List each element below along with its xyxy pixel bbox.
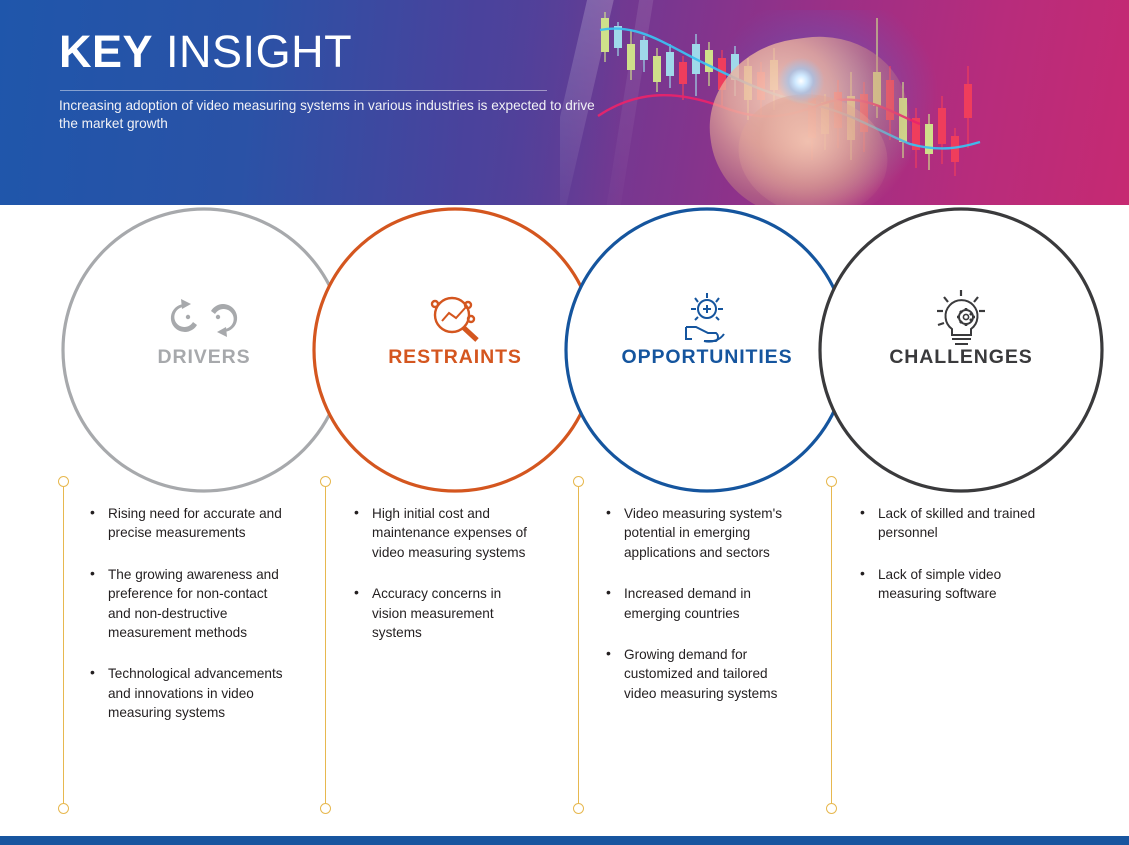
- circle-challenges[interactable]: CHALLENGES: [820, 209, 1102, 491]
- circle-label-opportunities: OPPORTUNITIES: [622, 346, 793, 368]
- bottom-accent-bar: [0, 836, 1129, 845]
- column-divider-restraints: [319, 470, 333, 820]
- bullet-list-opportunities: Video measuring system's potential in em…: [604, 504, 794, 703]
- infographic-page: KEY INSIGHT Increasing adoption of video…: [0, 0, 1129, 845]
- list-item: Video measuring system's potential in em…: [604, 504, 794, 562]
- bullet-columns: Rising need for accurate and precise mea…: [0, 470, 1129, 830]
- header-stock-chart-artwork: [560, 0, 1129, 205]
- bullet-list-drivers: Rising need for accurate and precise mea…: [88, 504, 283, 723]
- column-challenges: Lack of skilled and trained personnel La…: [858, 504, 1050, 626]
- column-opportunities: Video measuring system's potential in em…: [604, 504, 794, 725]
- page-title-bold: KEY: [59, 26, 153, 77]
- bullet-list-challenges: Lack of skilled and trained personnel La…: [858, 504, 1050, 604]
- list-item: Lack of simple video measuring software: [858, 565, 1050, 604]
- circle-row: DRIVERS RESTRAINTS: [0, 205, 1129, 495]
- divider-dot-bottom: [573, 803, 584, 814]
- divider-line: [325, 487, 326, 806]
- column-divider-challenges: [825, 470, 839, 820]
- divider-dot-bottom: [58, 803, 69, 814]
- header-banner: KEY INSIGHT Increasing adoption of video…: [0, 0, 1129, 205]
- page-subtitle: Increasing adoption of video measuring s…: [59, 97, 599, 133]
- bullet-list-restraints: High initial cost and maintenance expens…: [352, 504, 537, 642]
- list-item: High initial cost and maintenance expens…: [352, 504, 537, 562]
- column-drivers: Rising need for accurate and precise mea…: [88, 504, 283, 745]
- circle-label-restraints: RESTRAINTS: [388, 346, 522, 368]
- spark-glow-icon: [778, 58, 824, 104]
- divider-line: [578, 487, 579, 806]
- divider-dot-bottom: [826, 803, 837, 814]
- page-title-rest: INSIGHT: [166, 26, 352, 77]
- list-item: Increased demand in emerging countries: [604, 584, 794, 623]
- title-divider: [60, 90, 547, 91]
- column-restraints: High initial cost and maintenance expens…: [352, 504, 537, 664]
- circle-label-challenges: CHALLENGES: [889, 346, 1032, 368]
- divider-dot-top: [58, 476, 69, 487]
- circle-label-drivers: DRIVERS: [158, 346, 251, 368]
- column-divider-opportunities: [572, 470, 586, 820]
- column-divider-drivers: [57, 470, 71, 820]
- list-item: Growing demand for customized and tailor…: [604, 645, 794, 703]
- list-item: Technological advancements and innovatio…: [88, 664, 283, 722]
- divider-line: [831, 487, 832, 806]
- list-item: The growing awareness and preference for…: [88, 565, 283, 643]
- list-item: Rising need for accurate and precise mea…: [88, 504, 283, 543]
- list-item: Lack of skilled and trained personnel: [858, 504, 1050, 543]
- list-item: Accuracy concerns in vision measurement …: [352, 584, 537, 642]
- divider-dot-bottom: [320, 803, 331, 814]
- page-title: KEY INSIGHT: [59, 26, 352, 78]
- divider-line: [63, 487, 64, 806]
- divider-dot-top: [573, 476, 584, 487]
- divider-dot-top: [320, 476, 331, 487]
- divider-dot-top: [826, 476, 837, 487]
